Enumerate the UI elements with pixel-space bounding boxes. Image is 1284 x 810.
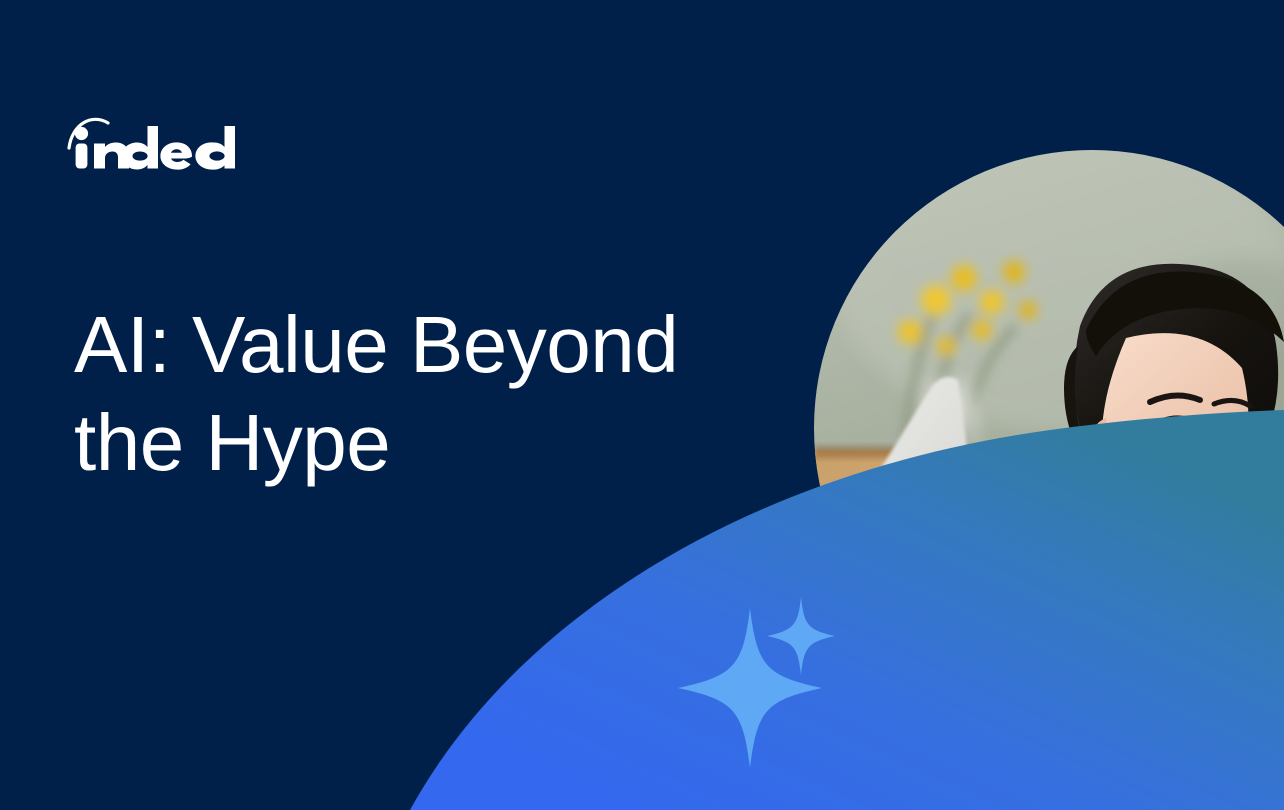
indeed-logo[interactable] [64, 112, 240, 170]
presentation-slide: AI: Value Beyond the Hype [0, 0, 1284, 810]
indeed-i-dot [75, 127, 88, 140]
indeed-logo-icon [64, 112, 240, 170]
page-title: AI: Value Beyond the Hype [74, 296, 774, 492]
